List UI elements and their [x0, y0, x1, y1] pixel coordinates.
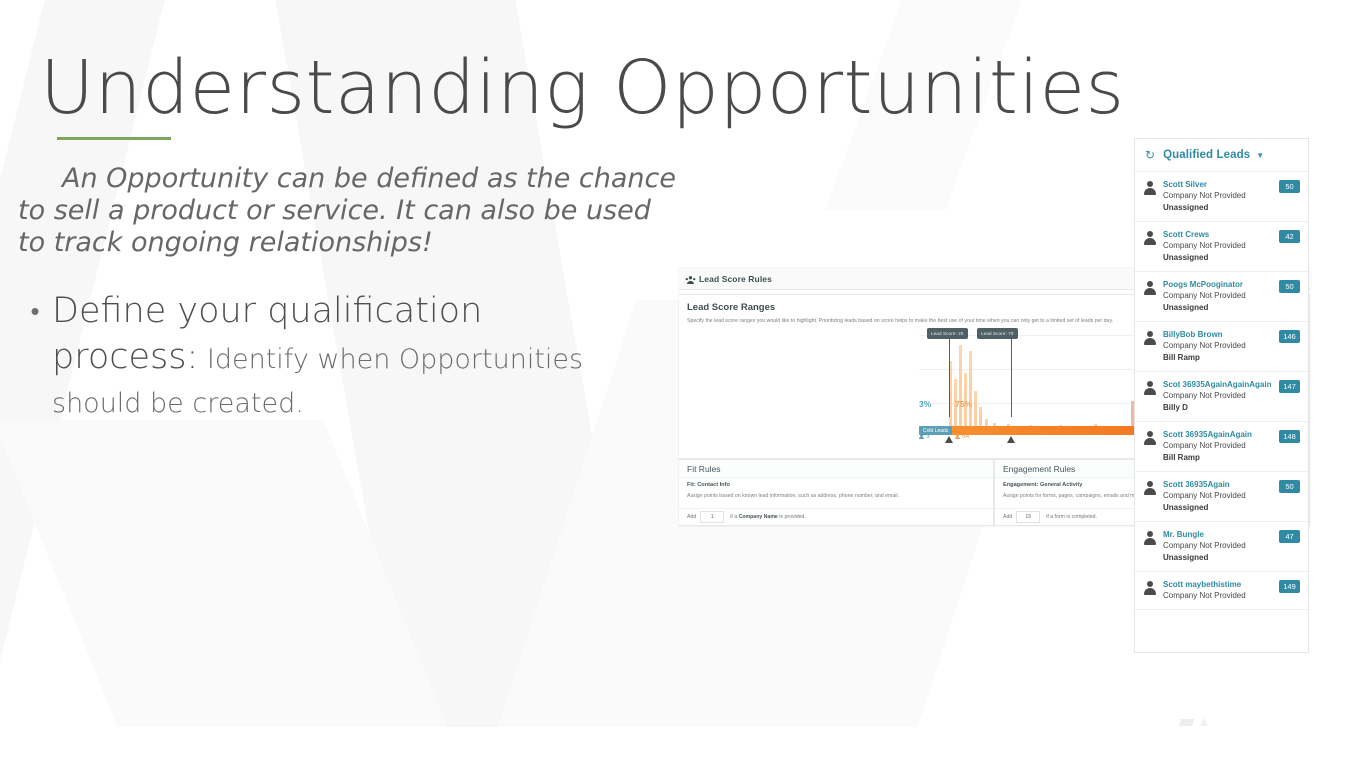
avatar: [1143, 280, 1157, 296]
title-underline-accent: [57, 137, 171, 140]
fit-rule-row[interactable]: Add 1 if a Company Name is provided.: [679, 508, 993, 525]
qualified-leads-title: Qualified Leads: [1163, 149, 1250, 161]
segment-count-cold-value: 3: [926, 433, 930, 440]
lead-score-badge: 50: [1279, 480, 1300, 493]
refresh-icon[interactable]: ↻: [1145, 149, 1155, 161]
fit-rule-points-input[interactable]: 1: [700, 511, 724, 523]
lead-company: Company Not Provided: [1163, 490, 1275, 502]
person-icon: [919, 434, 924, 440]
lead-name[interactable]: Scot 36935AgainAgainAgain: [1163, 379, 1275, 390]
lead-score-ranges-title: Lead Score Ranges: [687, 302, 775, 313]
list-item[interactable]: Poogs McPooginatorCompany Not ProvidedUn…: [1135, 272, 1308, 322]
lead-score-badge: 50: [1279, 180, 1300, 193]
list-item[interactable]: Scott 36935AgainCompany Not ProvidedUnas…: [1135, 472, 1308, 522]
list-item[interactable]: Scott SilverCompany Not ProvidedUnassign…: [1135, 172, 1308, 222]
lead-owner: Billy D: [1163, 402, 1275, 414]
threshold-line-high: [1011, 333, 1012, 417]
engagement-rule-condition: if a form is completed.: [1046, 514, 1097, 520]
engagement-rules-subtitle: Engagement: General Activity: [1003, 482, 1082, 488]
lead-company: Company Not Provided: [1163, 540, 1275, 552]
threshold-handle-high[interactable]: [1007, 436, 1015, 443]
list-item[interactable]: Scott 36935AgainAgainCompany Not Provide…: [1135, 422, 1308, 472]
lead-company: Company Not Provided: [1163, 440, 1275, 452]
avatar: [1143, 330, 1157, 346]
lead-score-badge: 148: [1279, 430, 1300, 443]
avatar: [1143, 430, 1157, 446]
fit-rule-condition: if a Company Name is provided.: [730, 514, 806, 520]
qualified-leads-panel: ↻ Qualified Leads ▼ Scott SilverCompany …: [1134, 138, 1309, 653]
lead-company: Company Not Provided: [1163, 290, 1275, 302]
lead-company: Company Not Provided: [1163, 340, 1275, 352]
list-item-body: Scott CrewsCompany Not ProvidedUnassigne…: [1163, 229, 1275, 264]
lead-owner: Unassigned: [1163, 502, 1275, 514]
fit-rule-condition-post: is provided.: [778, 514, 806, 520]
chevron-down-icon[interactable]: ▼: [1256, 151, 1264, 160]
lead-owner: Unassigned: [1163, 252, 1275, 264]
lead-owner: Bill Ramp: [1163, 452, 1275, 464]
person-icon: [955, 434, 960, 440]
lead-score-badge: 147: [1279, 380, 1300, 393]
threshold-line-low: [949, 333, 950, 417]
lead-name[interactable]: Scott maybethistime: [1163, 579, 1275, 590]
presentation-slide: Understanding Opportunities An Opportuni…: [0, 0, 1366, 727]
lead-score-ranges-description: Specify the lead score ranges you would …: [687, 317, 1127, 325]
fit-rules-description: Assign points based on known lead inform…: [687, 492, 967, 500]
fit-rules-card: Fit Rules Fit: Contact Info Assign point…: [679, 459, 994, 526]
avatar: [1143, 180, 1157, 196]
background-shape: [0, 420, 457, 727]
lead-owner: Unassigned: [1163, 302, 1275, 314]
lead-score-badge: 42: [1279, 230, 1300, 243]
fit-rules-subtitle: Fit: Contact Info: [687, 482, 730, 488]
page-title: Understanding Opportunities: [40, 45, 1125, 131]
fit-rules-header: Fit Rules: [679, 460, 993, 478]
segment-count-warm: 64: [955, 433, 969, 440]
lead-company: Company Not Provided: [1163, 390, 1275, 402]
lead-owner: Unassigned: [1163, 552, 1275, 564]
lead-name[interactable]: Scott Silver: [1163, 179, 1275, 190]
list-item[interactable]: Scott maybethistimeCompany Not Provided1…: [1135, 572, 1308, 610]
list-item-body: Mr. BungleCompany Not ProvidedUnassigned: [1163, 529, 1275, 564]
threshold-handle-low[interactable]: [945, 436, 953, 443]
lead-name[interactable]: Scott 36935AgainAgain: [1163, 429, 1275, 440]
fit-rule-condition-pre: if a: [730, 514, 738, 520]
bullet-text: Define your qualification process: Ident…: [52, 288, 638, 426]
list-item[interactable]: Mr. BungleCompany Not ProvidedUnassigned…: [1135, 522, 1308, 572]
lead-company: Company Not Provided: [1163, 590, 1275, 602]
lead-name[interactable]: Mr. Bungle: [1163, 529, 1275, 540]
bullet-item: • Define your qualification process: Ide…: [18, 288, 638, 426]
slide-footer-logo: [1180, 716, 1240, 727]
lead-score-badge: 146: [1279, 330, 1300, 343]
lead-name[interactable]: Scott Crews: [1163, 229, 1275, 240]
list-item-body: BillyBob BrownCompany Not ProvidedBill R…: [1163, 329, 1275, 364]
tooltip-low: Lead Score: 20: [927, 328, 968, 339]
avatar: [1143, 580, 1157, 596]
lead-paragraph-text: An Opportunity can be defined as the cha…: [18, 163, 676, 258]
lead-owner: Bill Ramp: [1163, 352, 1275, 364]
lead-owner: Unassigned: [1163, 202, 1275, 214]
app-header-title: Lead Score Rules: [699, 274, 772, 284]
segment-percent-warm: 75%: [955, 399, 972, 409]
engagement-rule-points-input[interactable]: 15: [1016, 511, 1040, 523]
lead-paragraph: An Opportunity can be defined as the cha…: [18, 163, 678, 259]
list-item[interactable]: Scott CrewsCompany Not ProvidedUnassigne…: [1135, 222, 1308, 272]
lead-score-badge: 47: [1279, 530, 1300, 543]
engagement-rules-title: Engagement Rules: [1003, 464, 1075, 474]
avatar: [1143, 230, 1157, 246]
avatar: [1143, 380, 1157, 396]
fit-rule-condition-field: Company Name: [739, 514, 778, 520]
list-item-body: Scot 36935AgainAgainAgainCompany Not Pro…: [1163, 379, 1275, 414]
list-item[interactable]: BillyBob BrownCompany Not ProvidedBill R…: [1135, 322, 1308, 372]
lead-company: Company Not Provided: [1163, 190, 1275, 202]
avatar: [1143, 480, 1157, 496]
list-item-body: Poogs McPooginatorCompany Not ProvidedUn…: [1163, 279, 1275, 314]
fit-rule-add-label: Add: [687, 514, 696, 520]
list-item-body: Scott maybethistimeCompany Not Provided: [1163, 579, 1275, 602]
avatar: [1143, 530, 1157, 546]
qualified-leads-header[interactable]: ↻ Qualified Leads ▼: [1135, 139, 1308, 172]
lead-name[interactable]: BillyBob Brown: [1163, 329, 1275, 340]
list-item-body: Scott 36935AgainAgainCompany Not Provide…: [1163, 429, 1275, 464]
bullet-marker: •: [18, 288, 52, 426]
lead-score-badge: 50: [1279, 280, 1300, 293]
group-people-icon: [685, 273, 696, 284]
tooltip-high: Lead Score: 70: [977, 328, 1018, 339]
list-item-body: Scott SilverCompany Not ProvidedUnassign…: [1163, 179, 1275, 214]
segment-count-cold: 3: [919, 433, 930, 440]
lead-company: Company Not Provided: [1163, 240, 1275, 252]
engagement-rule-add-label: Add: [1003, 514, 1012, 520]
lead-score-badge: 149: [1279, 580, 1300, 593]
qualified-leads-list[interactable]: Scott SilverCompany Not ProvidedUnassign…: [1135, 172, 1308, 610]
segment-percent-cold: 3%: [919, 399, 931, 409]
list-item[interactable]: Scot 36935AgainAgainAgainCompany Not Pro…: [1135, 372, 1308, 422]
lead-name[interactable]: Poogs McPooginator: [1163, 279, 1275, 290]
engagement-rule-condition-pre: if a form is completed.: [1046, 514, 1097, 520]
fit-rules-title: Fit Rules: [687, 464, 721, 474]
segment-count-warm-value: 64: [962, 433, 969, 440]
lead-name[interactable]: Scott 36935Again: [1163, 479, 1275, 490]
list-item-body: Scott 36935AgainCompany Not ProvidedUnas…: [1163, 479, 1275, 514]
